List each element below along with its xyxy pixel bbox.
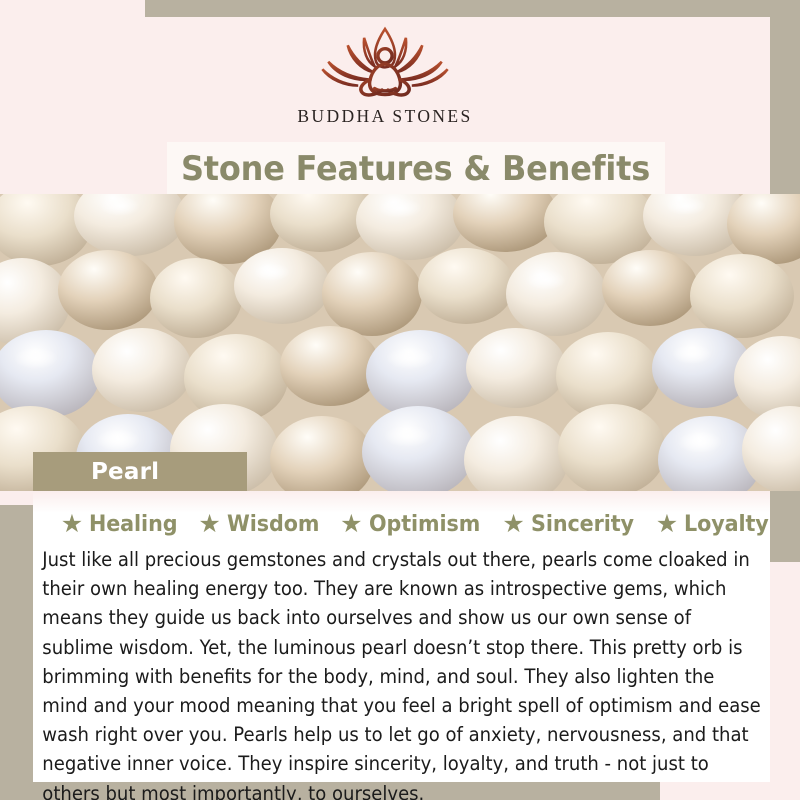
stone-name-bar: Pearl <box>33 452 247 491</box>
star-icon: ★ <box>198 512 220 537</box>
stone-photo <box>0 194 800 491</box>
benefits-row: ★ Healing ★ Wisdom ★ Optimism ★ Sincerit… <box>33 511 770 537</box>
description-text: Just like all precious gemstones and cry… <box>33 545 770 800</box>
content-card: ★ Healing ★ Wisdom ★ Optimism ★ Sincerit… <box>33 491 770 782</box>
star-icon: ★ <box>502 512 524 537</box>
page-title: Stone Features & Benefits <box>181 149 650 189</box>
star-icon: ★ <box>656 512 678 537</box>
benefit-item: ★ Optimism <box>340 511 489 537</box>
lotus-meditation-icon <box>310 23 460 105</box>
benefit-label: Loyalty <box>684 511 769 537</box>
benefit-label: Sincerity <box>531 511 634 537</box>
pearl-field <box>0 194 800 491</box>
benefit-label: Wisdom <box>227 511 319 537</box>
frame-band-top <box>145 0 800 17</box>
benefit-item: ★ Sincerity <box>502 511 642 537</box>
benefit-label: Optimism <box>369 511 480 537</box>
benefit-item: ★ Wisdom <box>198 511 327 537</box>
infographic-page: BUDDHA STONES Stone Features & Benefits <box>0 0 800 800</box>
stone-name-label: Pearl <box>91 459 159 485</box>
frame-band-left <box>0 505 33 800</box>
brand-header: BUDDHA STONES <box>0 17 770 142</box>
star-icon: ★ <box>340 512 362 537</box>
benefit-label: Healing <box>89 511 177 537</box>
benefit-item: ★ Healing <box>61 511 186 537</box>
benefit-item: ★ Loyalty <box>656 511 777 537</box>
section-title-banner: Stone Features & Benefits <box>167 142 665 195</box>
pearl-photo-graphic <box>0 194 800 491</box>
star-icon: ★ <box>61 512 83 537</box>
brand-name: BUDDHA STONES <box>297 106 472 127</box>
